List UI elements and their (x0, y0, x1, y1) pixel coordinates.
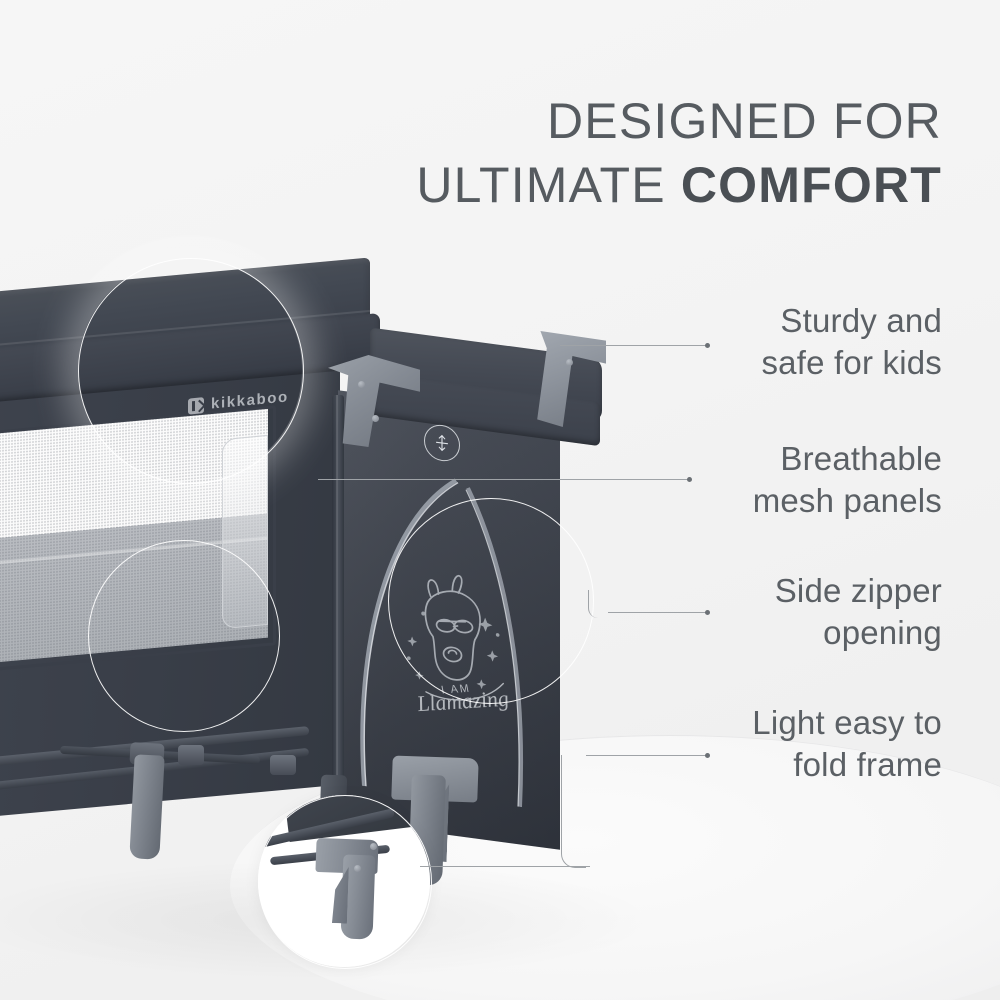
corner-edge (332, 395, 344, 813)
headline-line-2: ULTIMATE COMFORT (416, 160, 942, 210)
feature-label-mesh: Breathable mesh panels (753, 438, 942, 521)
screw-icon (566, 359, 573, 366)
leader-line-zipper (608, 612, 708, 613)
leader-line-sturdy (560, 345, 708, 346)
top-rail-ring (78, 258, 304, 484)
mesh-ring (88, 540, 280, 732)
feature-zipper-line2: opening (775, 612, 942, 654)
leader-dot-zipper (705, 610, 710, 615)
feature-mesh-line2: mesh panels (753, 480, 942, 522)
headline-comfort: COMFORT (681, 157, 942, 213)
headline-line-1: DESIGNED FOR (416, 96, 942, 146)
leader-dot-fold (705, 753, 710, 758)
leader-line-fold-b (586, 755, 708, 756)
leader-elbow-fold (561, 755, 586, 868)
product-feature-image: I AM Llamazing kikkaboo (0, 0, 1000, 1000)
feature-label-zipper: Side zipper opening (775, 570, 942, 653)
feature-sturdy-line1: Sturdy and (761, 300, 942, 342)
feature-sturdy-line2: safe for kids (761, 342, 942, 384)
leader-dot-mesh (687, 477, 692, 482)
feature-mesh-line1: Breathable (753, 438, 942, 480)
page-title: DESIGNED FOR ULTIMATE COMFORT (416, 96, 942, 210)
leader-line-mesh (318, 479, 690, 480)
fold-frame-hinge (178, 745, 204, 765)
headline-ultimate: ULTIMATE (416, 157, 665, 213)
feature-zipper-line1: Side zipper (775, 570, 942, 612)
leg-left (129, 754, 164, 859)
feature-fold-line1: Light easy to (752, 702, 942, 744)
fold-frame-hinge (270, 755, 296, 775)
feature-label-sturdy: Sturdy and safe for kids (761, 300, 942, 383)
screw-icon (358, 381, 365, 388)
leader-elbow-zipper (588, 590, 611, 618)
leader-line-fold-a (420, 866, 590, 867)
leader-dot-sturdy (705, 343, 710, 348)
corner-edge-highlight (336, 395, 338, 813)
feature-fold-line2: fold frame (752, 744, 942, 786)
feature-label-fold-frame: Light easy to fold frame (752, 702, 942, 785)
screw-icon (372, 415, 379, 422)
print-ring (388, 498, 594, 704)
leg-magnifier-ring (258, 795, 432, 969)
